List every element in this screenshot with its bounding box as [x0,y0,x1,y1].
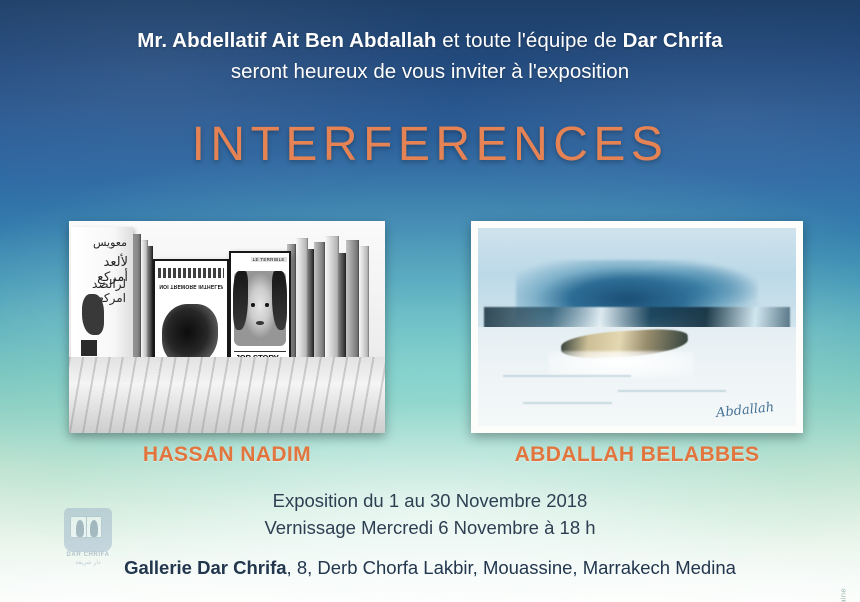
book-spine [296,238,308,361]
artist-name-right: ABDALLAH BELABBES [471,443,803,467]
photograph-scene: معويس لألعد أمركع لرالصد امركعس NOI TREM… [69,221,385,433]
hair-left [233,271,247,329]
seascape-scene: Abdallah [478,228,796,426]
artist-name-left: HASSAN NADIM [69,443,385,467]
artist-names-row: HASSAN NADIM ABDALLAH BELABBES [0,443,860,471]
book-spine [141,240,148,361]
book-spine [346,240,359,361]
poster-banner-text: NOI TREMORE INTHELENT [159,283,222,289]
gallery-name: Gallerie Dar Chrifa [124,557,286,578]
eye-left [251,303,256,307]
book-spine [359,246,369,360]
mouth [256,321,264,325]
painting-canvas: Abdallah [478,228,796,426]
book-spine [339,253,346,361]
invitation-connector: et toute l'équipe de [436,29,622,52]
hair-right [272,271,286,329]
brush-streak [503,375,630,377]
exhibition-title: INTERFERENCES [0,117,860,172]
dar-chrifa-logo: DAR CHRIFA دار شريفة [62,508,114,564]
arabic-book: معويس لألعد أمركع لرالصد امركعس [71,227,133,365]
gallery-street-address: , 8, Derb Chorfa Lakbir, Mouassine, Marr… [287,557,736,578]
poster-header-label: LE TERRIBLE [251,257,287,262]
artwork-left-photograph: معويس لألعد أمركع لرالصد امركعس NOI TREM… [69,221,385,433]
logo-name-text: DAR CHRIFA [62,552,114,558]
portrait-face [234,271,285,346]
invitation-header: Mr. Abdellatif Ait Ben Abdallah et toute… [0,26,860,86]
exhibition-dates: Exposition du 1 au 30 Novembre 2018 Vern… [0,487,860,541]
book-spine [325,236,339,361]
host-name: Mr. Abdellatif Ait Ben Abdallah [137,29,436,52]
gallery-address: Gallerie Dar Chrifa, 8, Derb Chorfa Lakb… [0,557,860,579]
eye-right [265,303,270,307]
vernissage-line: Vernissage Mercredi 6 Novembre à 18 h [0,514,860,541]
ink-blot [82,294,104,335]
logo-figure-right [90,520,98,537]
organization-name: Dar Chrifa [623,29,723,52]
poster-barcode-strip [158,268,224,278]
book-spine [314,242,325,361]
brush-streak [523,402,612,404]
design-credit: Concept Lawhati et Marocaine [839,588,848,602]
brush-streak [618,390,726,392]
shelf-surface [69,357,385,433]
book-label-tag [81,340,97,356]
logo-figure-left [76,520,84,537]
arabic-text-line-1: معويس [93,236,127,249]
artwork-right-painting: Abdallah [471,221,803,433]
invitation-line-2: seront heureux de vous inviter à l'expos… [0,57,860,86]
exhibition-poster: Mr. Abdellatif Ait Ben Abdallah et toute… [0,0,860,602]
invitation-line-1: Mr. Abdellatif Ait Ben Abdallah et toute… [0,26,860,55]
logo-arabic-text: دار شريفة [62,559,114,566]
exposition-dates-line: Exposition du 1 au 30 Novembre 2018 [0,487,860,514]
